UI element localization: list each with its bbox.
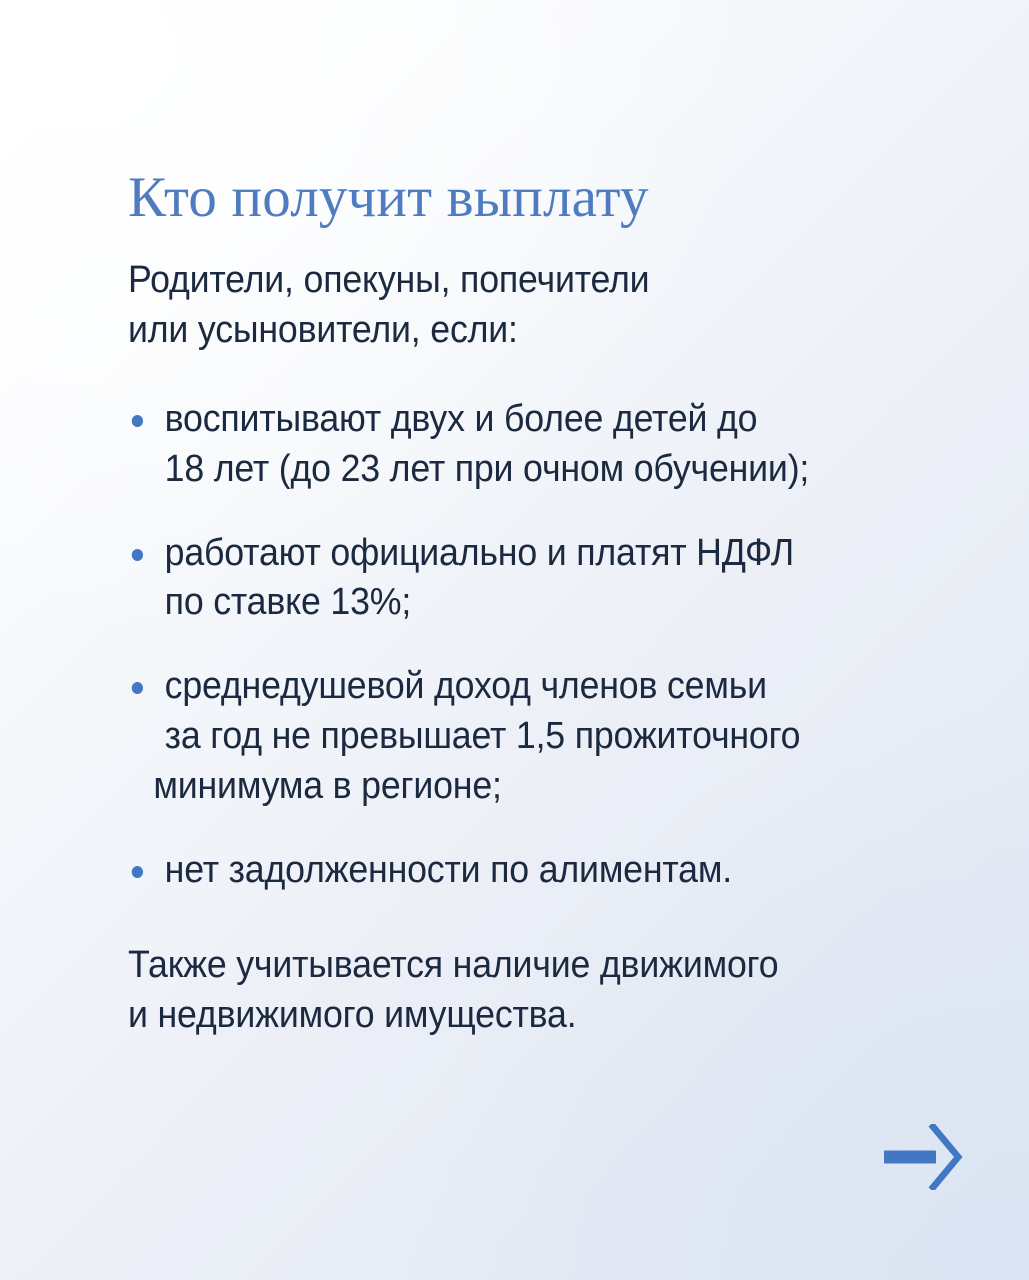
bullet-dot-icon xyxy=(132,866,143,878)
condition-line: по ставке 13%; xyxy=(165,578,956,628)
condition-line: 18 лет (до 23 лет при очном обучении); xyxy=(165,445,956,495)
list-item-income-limit: среднедушевой доход членов семьи за год … xyxy=(128,662,955,811)
outro-line-1: Также учитывается наличие движимого xyxy=(128,941,955,990)
intro-line-2: или усыновители, если: xyxy=(128,306,955,355)
condition-line: работают официально и платят НДФЛ xyxy=(165,529,956,579)
list-item-official-employment: работают официально и платят НДФЛ по ста… xyxy=(128,529,955,629)
condition-line: нет задолженности по алиментам. xyxy=(165,846,956,896)
bullet-dot-icon xyxy=(132,549,143,561)
condition-line: среднедушевой доход членов семьи xyxy=(165,662,956,712)
arrow-right-icon[interactable] xyxy=(884,1124,966,1190)
condition-line: минимума в регионе; xyxy=(153,762,955,812)
next-slide-button[interactable] xyxy=(884,1124,966,1190)
conditions-list: воспитывают двух и более детей до 18 лет… xyxy=(128,395,1008,895)
bullet-dot-icon xyxy=(132,415,143,427)
list-item-children: воспитывают двух и более детей до 18 лет… xyxy=(128,395,955,495)
bullet-dot-icon xyxy=(132,682,143,694)
condition-line: воспитывают двух и более детей до xyxy=(165,395,956,445)
condition-line: за год не превышает 1,5 прожиточного xyxy=(165,712,956,762)
slide-content: Кто получит выплату Родители, опекуны, п… xyxy=(128,168,1008,1040)
infographic-slide: Кто получит выплату Родители, опекуны, п… xyxy=(0,0,1029,1280)
outro-line-2: и недвижимого имущества. xyxy=(128,991,955,1040)
outro-paragraph: Также учитывается наличие движимого и не… xyxy=(128,941,955,1040)
page-title: Кто получит выплату xyxy=(128,168,1008,228)
intro-paragraph: Родители, опекуны, попечители или усынов… xyxy=(128,256,955,355)
intro-line-1: Родители, опекуны, попечители xyxy=(128,256,955,305)
list-item-no-alimony-debt: нет задолженности по алиментам. xyxy=(128,846,955,896)
